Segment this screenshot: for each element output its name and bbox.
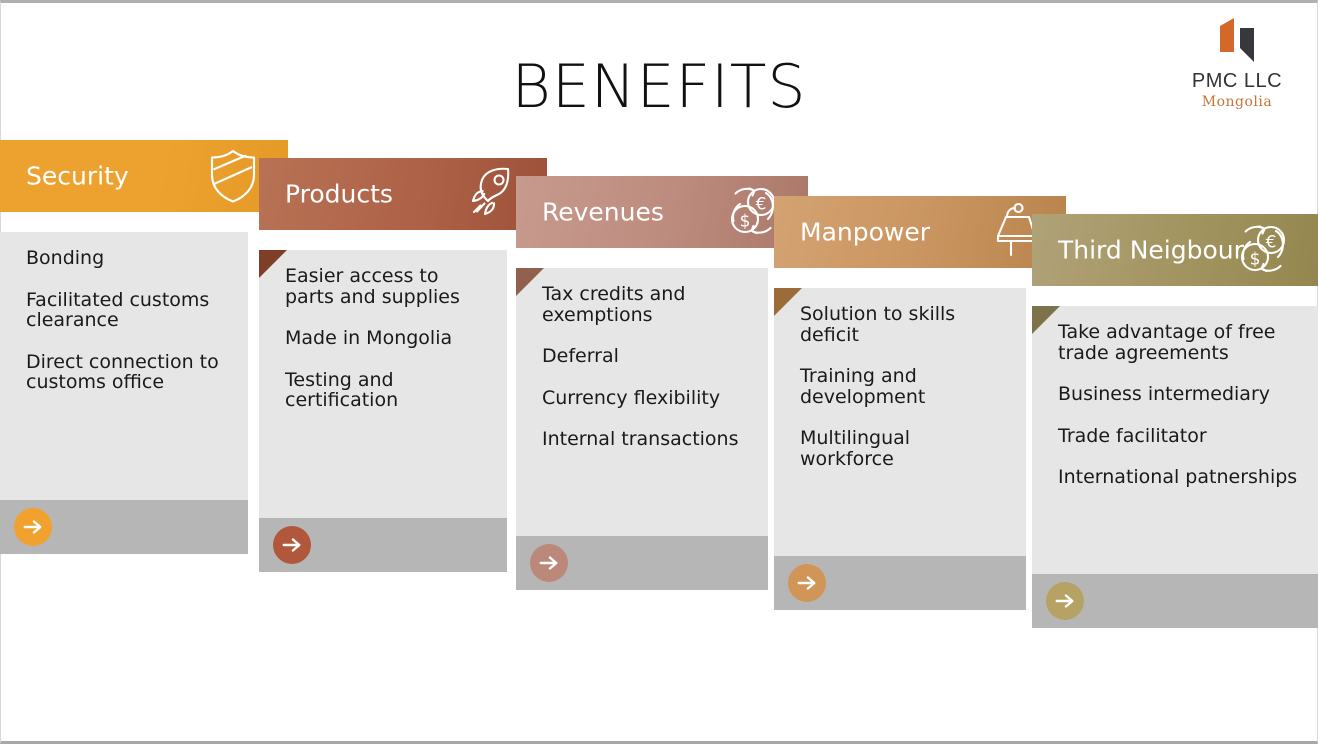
benefit-item: Take advantage of free trade agreements — [1058, 322, 1300, 363]
benefit-item: Internal transactions — [542, 429, 750, 450]
card-body-third-neigbour: Take advantage of free trade agreementsB… — [1032, 306, 1318, 574]
benefit-list-security: BondingFacilitated customs clearanceDire… — [26, 248, 230, 414]
card-header-products[interactable]: Products — [259, 158, 547, 230]
benefit-item: Facilitated customs clearance — [26, 290, 230, 331]
benefit-item: Direct connection to customs office — [26, 352, 230, 393]
logo: PMC LLC Mongolia — [1182, 18, 1292, 110]
benefit-item: Solution to skills deficit — [800, 304, 1008, 345]
benefit-item: Deferral — [542, 346, 750, 367]
shield-icon — [204, 147, 262, 205]
benefit-item: Made in Mongolia — [285, 328, 489, 349]
arrow-right-icon — [538, 552, 560, 574]
benefit-item: International patnerships — [1058, 467, 1300, 488]
next-arrow-button-revenues[interactable] — [530, 544, 568, 582]
benefit-item: Multilingual workforce — [800, 428, 1008, 469]
card-header-third-neigbour[interactable]: Third Neigbour € $ — [1032, 214, 1318, 286]
benefit-item: Tax credits and exemptions — [542, 284, 750, 325]
card-fold-products — [259, 250, 287, 278]
benefit-item: Trade facilitator — [1058, 426, 1300, 447]
next-arrow-button-products[interactable] — [273, 526, 311, 564]
benefit-list-third-neigbour: Take advantage of free trade agreementsB… — [1058, 322, 1300, 509]
svg-text:€: € — [756, 195, 767, 215]
card-fold-revenues — [516, 268, 544, 296]
card-body-security: BondingFacilitated customs clearanceDire… — [0, 232, 248, 500]
card-title-products: Products — [285, 182, 393, 207]
card-body-revenues: Tax credits and exemptionsDeferralCurren… — [516, 268, 768, 536]
card-footer-products — [259, 518, 507, 572]
card-title-manpower: Manpower — [800, 220, 930, 245]
card-body-products: Easier access to parts and suppliesMade … — [259, 250, 507, 518]
benefit-item: Currency flexibility — [542, 388, 750, 409]
card-header-revenues[interactable]: Revenues € $ — [516, 176, 808, 248]
next-arrow-button-third-neigbour[interactable] — [1046, 582, 1084, 620]
currency-exchange-icon: € $ — [1234, 221, 1292, 279]
card-footer-manpower — [774, 556, 1026, 610]
svg-text:$: $ — [1250, 250, 1261, 270]
card-header-manpower[interactable]: Manpower — [774, 196, 1066, 268]
benefit-item: Easier access to parts and supplies — [285, 266, 489, 307]
rocket-icon — [463, 165, 521, 223]
benefit-item: Business intermediary — [1058, 384, 1300, 405]
card-fold-third-neigbour — [1032, 306, 1060, 334]
arrow-right-icon — [281, 534, 303, 556]
card-fold-manpower — [774, 288, 802, 316]
benefit-list-revenues: Tax credits and exemptionsDeferralCurren… — [542, 284, 750, 471]
next-arrow-button-security[interactable] — [14, 508, 52, 546]
benefit-item: Training and development — [800, 366, 1008, 407]
card-footer-third-neigbour — [1032, 574, 1318, 628]
next-arrow-button-manpower[interactable] — [788, 564, 826, 602]
benefit-list-manpower: Solution to skills deficitTraining and d… — [800, 304, 1008, 490]
card-title-third-neigbour: Third Neigbour — [1058, 238, 1244, 263]
arrow-right-icon — [1054, 590, 1076, 612]
card-header-security[interactable]: Security — [0, 140, 288, 212]
logo-text: PMC LLC — [1182, 71, 1292, 92]
card-footer-revenues — [516, 536, 768, 590]
card-body-manpower: Solution to skills deficitTraining and d… — [774, 288, 1026, 556]
card-footer-security — [0, 500, 248, 554]
svg-text:€: € — [1266, 233, 1277, 253]
benefit-list-products: Easier access to parts and suppliesMade … — [285, 266, 489, 432]
arrow-right-icon — [22, 516, 44, 538]
card-title-security: Security — [26, 164, 129, 189]
logo-mark-icon — [1182, 18, 1292, 70]
page-title: BENEFITS — [0, 57, 1318, 117]
arrow-right-icon — [796, 572, 818, 594]
svg-text:$: $ — [740, 212, 751, 232]
benefit-item: Bonding — [26, 248, 230, 269]
logo-subtitle: Mongolia — [1182, 94, 1292, 110]
benefit-item: Testing and certification — [285, 370, 489, 411]
card-title-revenues: Revenues — [542, 200, 664, 225]
